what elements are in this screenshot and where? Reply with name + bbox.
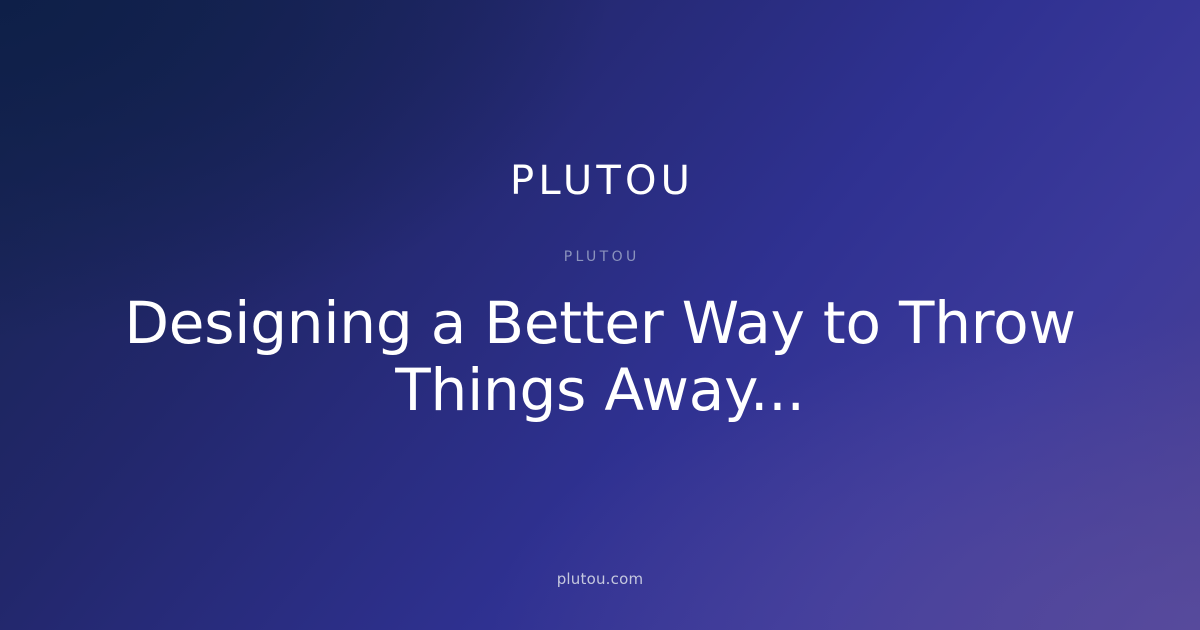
brand-title: PLUTOU xyxy=(506,160,694,202)
share-card: PLUTOU PLUTOU Designing a Better Way to … xyxy=(0,0,1200,630)
headline: Designing a Better Way to Throw Things A… xyxy=(100,290,1100,424)
footer-domain: plutou.com xyxy=(0,570,1200,588)
card-content: PLUTOU PLUTOU Designing a Better Way to … xyxy=(80,160,1120,423)
brand-kicker: PLUTOU xyxy=(560,250,639,265)
